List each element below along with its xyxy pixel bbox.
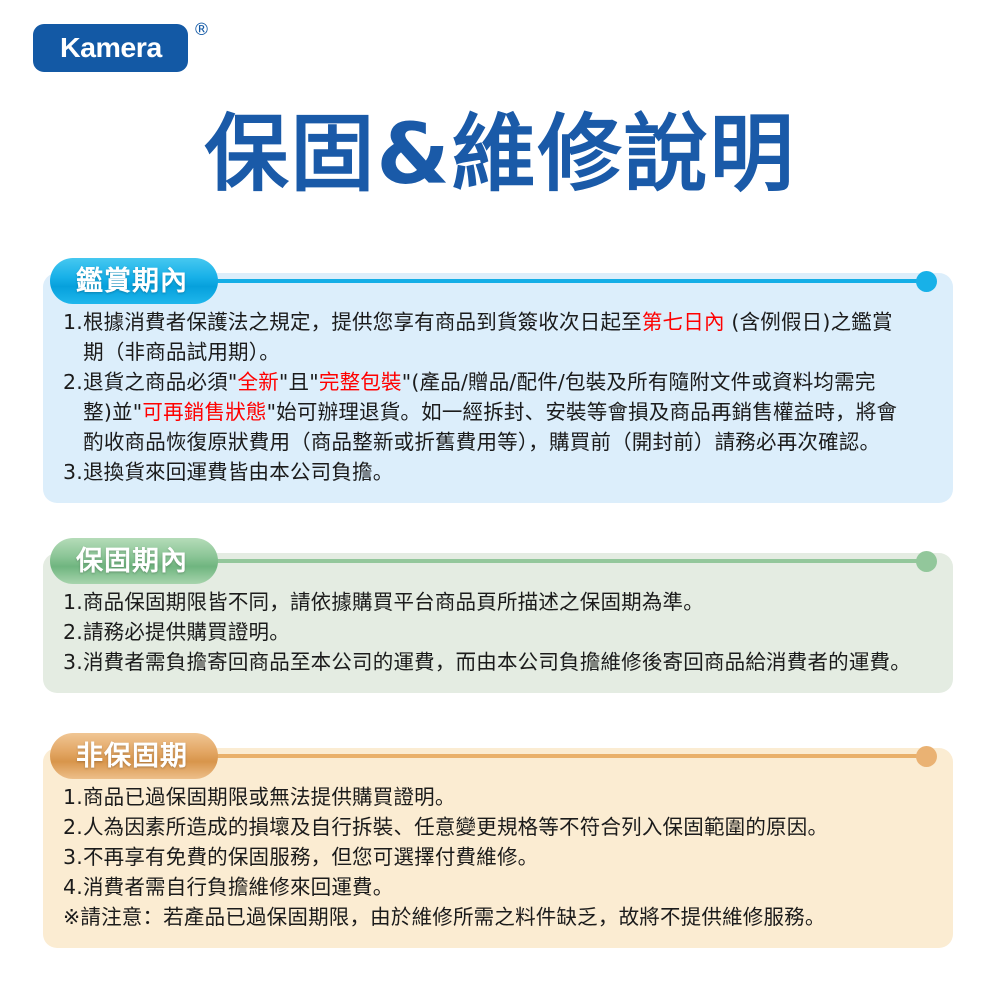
section-text-line: 1.商品保固期限皆不同，請依據購買平台商品頁所描述之保固期為準。 [63, 587, 933, 617]
body-text: 3.不再享有免費的保固服務，但您可選擇付費維修。 [63, 845, 538, 869]
section-pill-label: 鑑賞期內 [76, 268, 188, 295]
body-text: 1.商品已過保固期限或無法提供購買證明。 [63, 785, 456, 809]
section-rule [150, 559, 928, 563]
body-text: 1.根據消費者保護法之規定，提供您享有商品到貨簽收次日起至 [63, 310, 642, 334]
section-header: 非保固期 [0, 733, 1000, 779]
section-text-line: 4.消費者需自行負擔維修來回運費。 [63, 872, 933, 902]
body-text: "(產品/贈品/配件/包裝及所有隨附文件或資料均需完 [402, 370, 876, 394]
highlighted-text: 全新 [238, 370, 279, 394]
section-panel: 1.根據消費者保護法之規定，提供您享有商品到貨簽收次日起至第七日內 (含例假日)… [43, 273, 953, 503]
section-text-line: 3.退換貨來回運費皆由本公司負擔。 [63, 457, 933, 487]
body-text: 2.請務必提供購買證明。 [63, 620, 290, 644]
section-text-line: 酌收商品恢復原狀費用（商品整新或折舊費用等），購買前（開封前）請務必再次確認。 [63, 427, 933, 457]
section-rule [150, 279, 928, 283]
section-body: 1.商品已過保固期限或無法提供購買證明。2.人為因素所造成的損壞及自行拆裝、任意… [63, 776, 933, 932]
body-text: (含例假日)之鑑賞 [725, 310, 893, 334]
section-rule [150, 754, 928, 758]
body-text: 4.消費者需自行負擔維修來回運費。 [63, 875, 393, 899]
section-pill-label: 非保固期 [76, 743, 188, 770]
highlighted-text: 可再銷售狀態 [142, 400, 266, 424]
section-body: 1.根據消費者保護法之規定，提供您享有商品到貨簽收次日起至第七日內 (含例假日)… [63, 301, 933, 487]
brand-logo: Kamera ® [33, 24, 263, 86]
section-pill: 保固期內 [50, 538, 218, 584]
registered-trademark-icon: ® [193, 22, 210, 39]
section-rule-end-dot [916, 746, 937, 767]
section-header: 鑑賞期內 [0, 258, 1000, 304]
section-text-line: 2.請務必提供購買證明。 [63, 617, 933, 647]
section-text-line: 期（非商品試用期）。 [63, 337, 933, 367]
section-in-warranty: 1.商品保固期限皆不同，請依據購買平台商品頁所描述之保固期為準。2.請務必提供購… [0, 538, 1000, 584]
section-body: 1.商品保固期限皆不同，請依據購買平台商品頁所描述之保固期為準。2.請務必提供購… [63, 581, 933, 677]
body-text: 1.商品保固期限皆不同，請依據購買平台商品頁所描述之保固期為準。 [63, 590, 704, 614]
section-text-line: 整)並"可再銷售狀態"始可辦理退貨。如一經拆封、安裝等會損及商品再銷售權益時，將… [63, 397, 933, 427]
section-text-line: 1.根據消費者保護法之規定，提供您享有商品到貨簽收次日起至第七日內 (含例假日)… [63, 307, 933, 337]
body-text: "始可辦理退貨。如一經拆封、安裝等會損及商品再銷售權益時，將會 [267, 400, 898, 424]
section-text-line: 2.人為因素所造成的損壞及自行拆裝、任意變更規格等不符合列入保固範圍的原因。 [63, 812, 933, 842]
body-text: 整)並" [63, 400, 142, 424]
section-rule-end-dot [916, 271, 937, 292]
body-text: 3.退換貨來回運費皆由本公司負擔。 [63, 460, 393, 484]
body-text: "且" [279, 370, 319, 394]
section-out-of-warranty: 1.商品已過保固期限或無法提供購買證明。2.人為因素所造成的損壞及自行拆裝、任意… [0, 733, 1000, 779]
section-text-line: 2.退貨之商品必須"全新"且"完整包裝"(產品/贈品/配件/包裝及所有隨附文件或… [63, 367, 933, 397]
section-text-line: ※請注意：若產品已過保固期限，由於維修所需之料件缺乏，故將不提供維修服務。 [63, 902, 933, 932]
body-text: 期（非商品試用期）。 [63, 340, 280, 364]
body-text: 3.消費者需負擔寄回商品至本公司的運費，而由本公司負擔維修後寄回商品給消費者的運… [63, 650, 911, 674]
page-title: 保固&維修說明 [0, 112, 1000, 196]
logo-badge: Kamera [33, 24, 188, 72]
body-text: 酌收商品恢復原狀費用（商品整新或折舊費用等），購買前（開封前）請務必再次確認。 [63, 430, 880, 454]
section-warranty-trial: 1.根據消費者保護法之規定，提供您享有商品到貨簽收次日起至第七日內 (含例假日)… [0, 258, 1000, 304]
section-text-line: 3.不再享有免費的保固服務，但您可選擇付費維修。 [63, 842, 933, 872]
highlighted-text: 完整包裝 [319, 370, 402, 394]
section-pill: 鑑賞期內 [50, 258, 218, 304]
body-text: ※請注意：若產品已過保固期限，由於維修所需之料件缺乏，故將不提供維修服務。 [63, 905, 826, 929]
highlighted-text: 第七日內 [642, 310, 725, 334]
section-rule-end-dot [916, 551, 937, 572]
section-pill-label: 保固期內 [76, 548, 188, 575]
section-pill: 非保固期 [50, 733, 218, 779]
section-text-line: 3.消費者需負擔寄回商品至本公司的運費，而由本公司負擔維修後寄回商品給消費者的運… [63, 647, 933, 677]
body-text: 2.退貨之商品必須" [63, 370, 238, 394]
body-text: 2.人為因素所造成的損壞及自行拆裝、任意變更規格等不符合列入保固範圍的原因。 [63, 815, 828, 839]
logo-wordmark: Kamera [60, 32, 162, 64]
section-text-line: 1.商品已過保固期限或無法提供購買證明。 [63, 782, 933, 812]
section-header: 保固期內 [0, 538, 1000, 584]
